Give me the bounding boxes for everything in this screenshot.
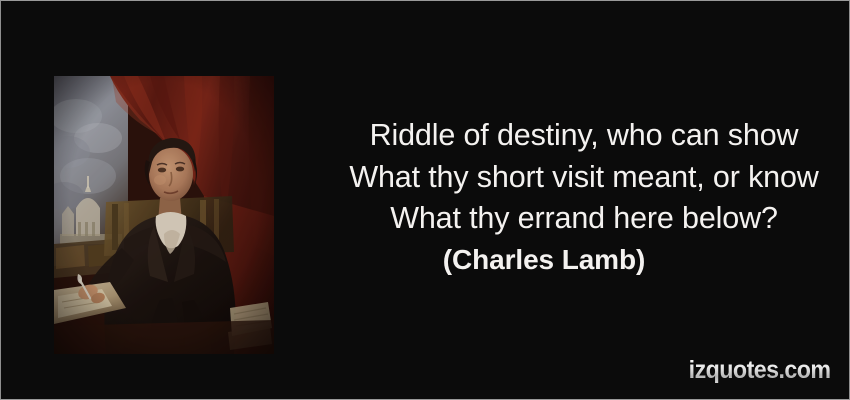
quote-attribution: (Charles Lamb) xyxy=(257,244,831,276)
portrait-painting-graphic xyxy=(54,76,274,354)
quote-line-2: What thy short visit meant, or know xyxy=(297,157,850,199)
quote-card: Riddle of destiny, who can show What thy… xyxy=(0,0,850,400)
portrait-image xyxy=(54,76,274,354)
quote-line-3: What thy errand here below? xyxy=(297,198,850,240)
quote-line-1: Riddle of destiny, who can show xyxy=(297,115,850,157)
site-watermark: izquotes.com xyxy=(689,356,831,385)
quote-text: Riddle of destiny, who can show What thy… xyxy=(297,115,850,240)
